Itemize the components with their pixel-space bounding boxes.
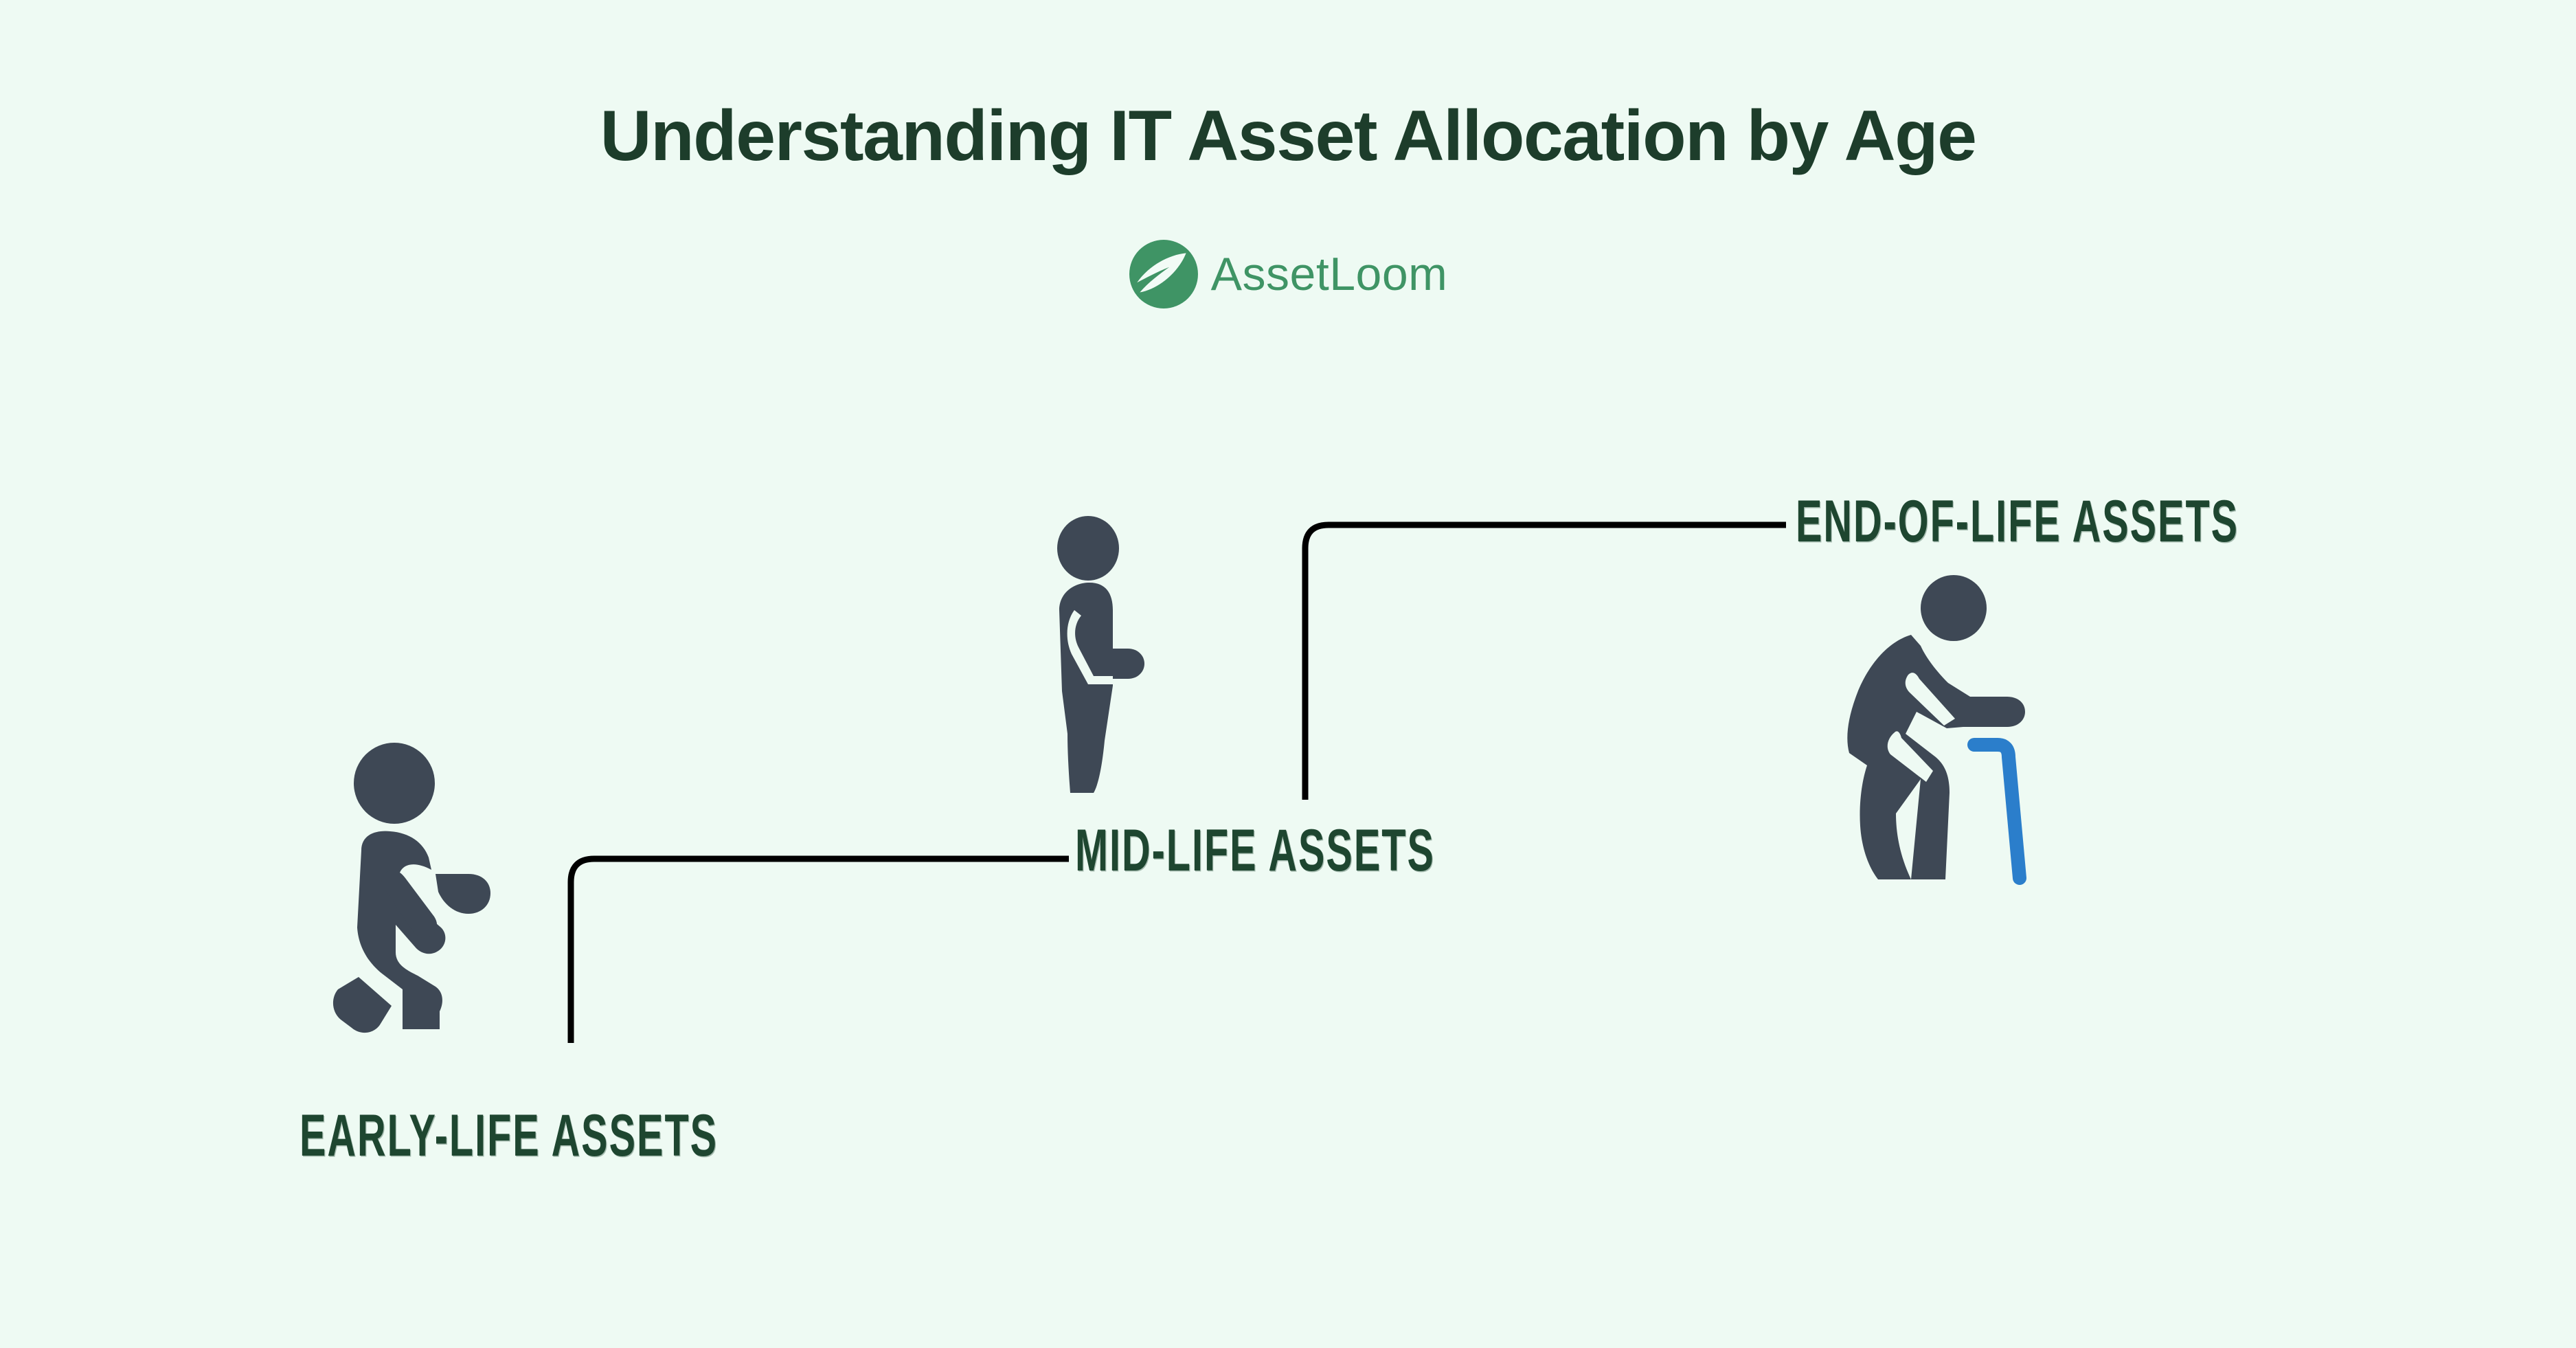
infographic-canvas: Understanding IT Asset Allocation by Age… [0, 0, 2576, 1348]
stage-label-early-life: EARLY-LIFE ASSETS [300, 1102, 718, 1169]
elderly-with-cane-icon [1845, 565, 2059, 886]
connector-mid-to-end [1305, 525, 1786, 800]
stage-label-end-of-life: END-OF-LIFE ASSETS [1796, 488, 2239, 555]
walking-cane-icon [1974, 745, 2020, 878]
crawling-baby-icon [313, 734, 514, 1036]
standing-adult-icon [1047, 514, 1205, 797]
timeline-diagram: EARLY-LIFE ASSETS MID-LIFE ASSETS END-OF… [0, 0, 2576, 1348]
connector-early-to-mid [571, 859, 1069, 1043]
stage-label-mid-life: MID-LIFE ASSETS [1075, 817, 1435, 884]
